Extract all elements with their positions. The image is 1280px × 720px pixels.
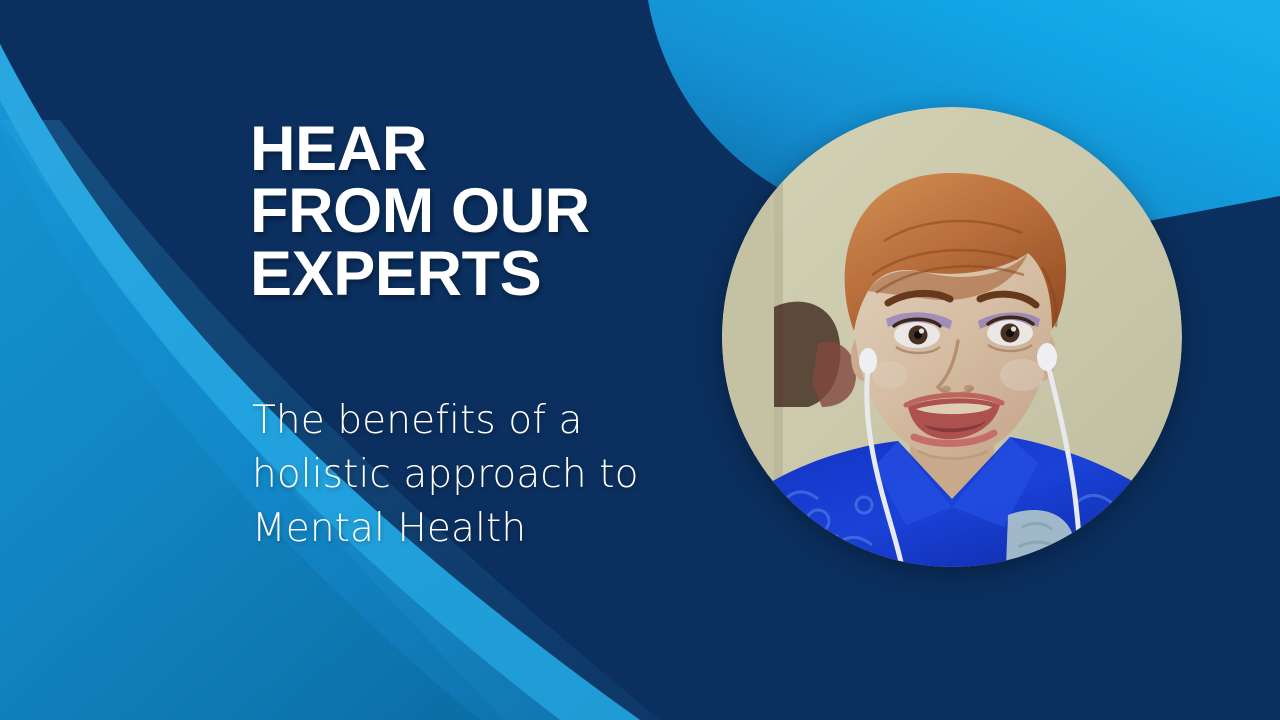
text-block: HEAR FROM OUR EXPERTS The benefits of a … xyxy=(250,118,680,305)
speaker-portrait-illustration xyxy=(722,107,1182,567)
page-title: HEAR FROM OUR EXPERTS xyxy=(250,118,680,305)
page-subtitle: The benefits of a holistic approach to M… xyxy=(252,394,652,557)
slide-canvas: HEAR FROM OUR EXPERTS The benefits of a … xyxy=(0,0,1280,720)
speaker-avatar xyxy=(722,107,1182,567)
